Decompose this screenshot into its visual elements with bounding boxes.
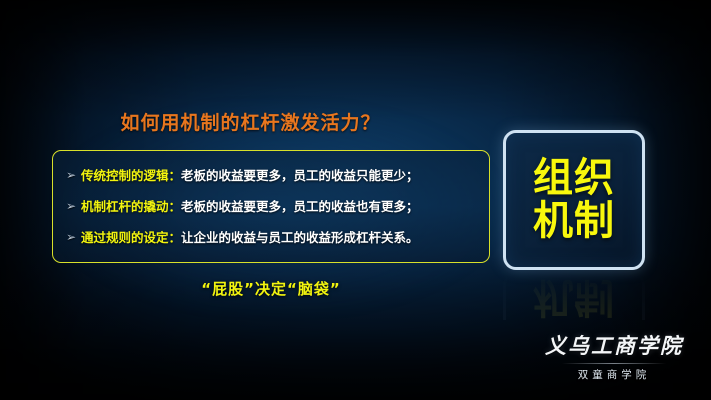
bullet-item-1-rest: 老板的收益要更多，员工的收益只能更少； — [181, 169, 419, 183]
keyword-box: 组织 机制 — [503, 130, 645, 270]
bullet-panel: ➢ 传统控制的逻辑： 老板的收益要更多，员工的收益只能更少； ➢ 机制杠杆的撬动… — [52, 150, 490, 263]
institution-logo: 义乌工商学院 双童商学院 — [539, 330, 689, 382]
logo-name: 义乌工商学院 — [539, 330, 689, 360]
bullet-item-2: ➢ 机制杠杆的撬动： 老板的收益要更多，员工的收益也有更多； — [61, 200, 479, 214]
bullet-item-3-rest: 让企业的收益与员工的收益形成杠杆关系。 — [181, 231, 419, 245]
bullet-item-1: ➢ 传统控制的逻辑： 老板的收益要更多，员工的收益只能更少； — [61, 169, 479, 183]
keyword-line-2: 机制 — [533, 200, 615, 243]
logo-sub-name: 双童商学院 — [539, 367, 689, 382]
slide-title-text: 如何用机制的杠杆激发活力？ — [120, 108, 380, 135]
keyword-reflection-text: 机制 — [533, 275, 615, 318]
keyword-line-1: 组织 — [533, 157, 615, 200]
bullet-item-2-rest: 老板的收益要更多，员工的收益也有更多； — [181, 200, 419, 214]
bullet-item-3: ➢ 通过规则的设定： 让企业的收益与员工的收益形成杠杆关系。 — [61, 231, 479, 245]
bullet-item-3-lead: 通过规则的设定： — [81, 231, 181, 245]
bullet-item-2-lead: 机制杠杆的撬动： — [81, 200, 181, 214]
keyword-box-reflection: 机制 — [503, 272, 645, 320]
arrow-bullet-icon: ➢ — [61, 231, 81, 244]
logo-divider — [562, 363, 666, 364]
slide-caption: “屁股”决定“脑袋” — [52, 278, 490, 299]
arrow-bullet-icon: ➢ — [61, 169, 81, 182]
arrow-bullet-icon: ➢ — [61, 200, 81, 213]
presentation-slide: 如何用机制的杠杆激发活力？ ➢ 传统控制的逻辑： 老板的收益要更多，员工的收益只… — [0, 0, 711, 400]
bullet-item-1-lead: 传统控制的逻辑： — [81, 169, 181, 183]
